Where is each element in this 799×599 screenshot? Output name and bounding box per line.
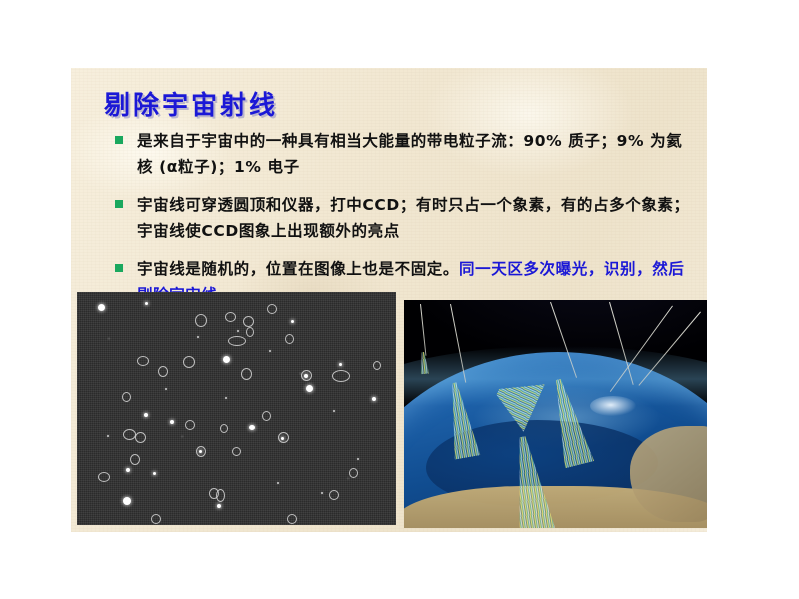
cosmic-ray-shower-image	[404, 300, 707, 528]
slide-panel: 剔除宇宙射线 是来自于宇宙中的一种具有相当大能量的带电粒子流：90% 质子；9%…	[71, 68, 707, 532]
bullet-item-2-text: 宇宙线可穿透圆顶和仪器，打中CCD；有时只占一个象素，有的占多个象素；宇宙线使C…	[137, 192, 695, 244]
slide-root: 剔除宇宙射线 是来自于宇宙中的一种具有相当大能量的带电粒子流：90% 质子；9%…	[0, 0, 799, 599]
bullet-item-3-plain: 宇宙线是随机的，位置在图像上也是不固定。	[137, 260, 459, 278]
bullet-square-icon	[115, 200, 123, 208]
bullet-square-icon	[115, 136, 123, 144]
ccd-noise-texture	[77, 292, 396, 525]
bullet-square-icon	[115, 264, 123, 272]
list-item: 宇宙线可穿透圆顶和仪器，打中CCD；有时只占一个象素，有的占多个象素；宇宙线使C…	[115, 192, 695, 244]
list-item: 是来自于宇宙中的一种具有相当大能量的带电粒子流：90% 质子；9% 为氦核 (α…	[115, 128, 695, 180]
ccd-starfield-image	[77, 292, 396, 525]
cloud-patch	[590, 396, 636, 416]
page-title: 剔除宇宙射线	[104, 85, 278, 122]
atmosphere-glow	[404, 346, 707, 406]
bullet-item-1-text: 是来自于宇宙中的一种具有相当大能量的带电粒子流：90% 质子；9% 为氦核 (α…	[137, 128, 695, 180]
figure-row	[77, 292, 707, 528]
